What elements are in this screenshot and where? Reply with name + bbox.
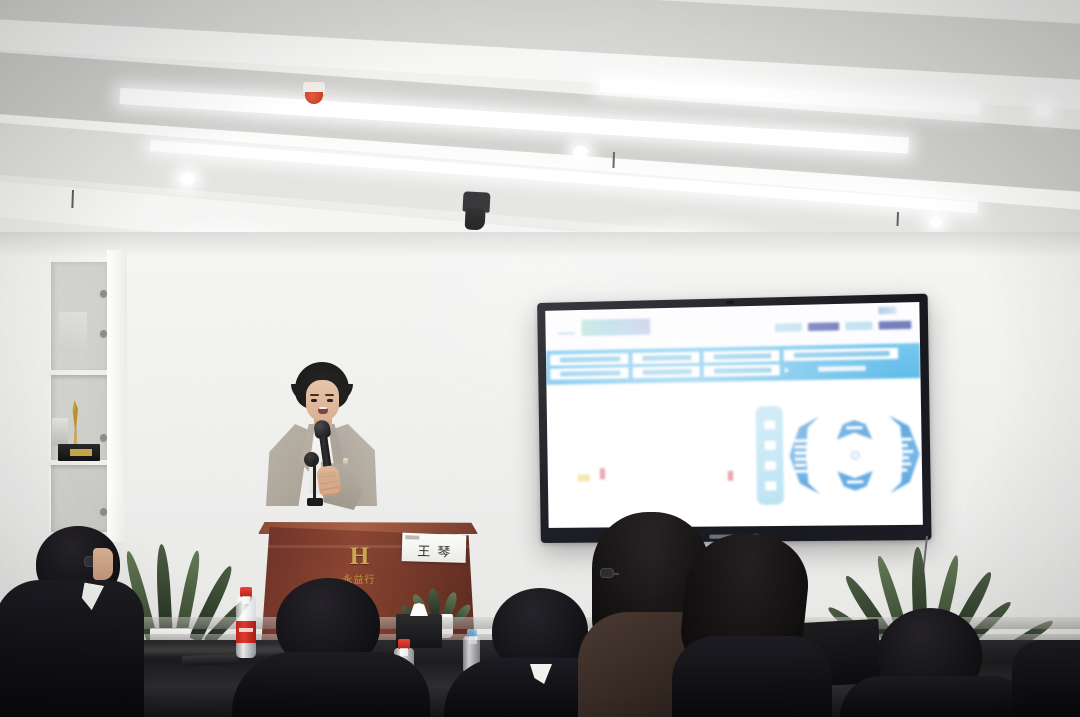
- downlight-4: [930, 218, 942, 227]
- diagram-left-arc: [789, 417, 820, 495]
- menu-item-4-label: [794, 351, 890, 358]
- caret-right-icon: [705, 368, 709, 374]
- downlight-1: [180, 173, 195, 185]
- niche-peg-2: [100, 330, 107, 337]
- ptz-camera-icon: [462, 191, 490, 212]
- name-card: 王琴: [402, 532, 467, 563]
- name-card-name: 王琴: [402, 540, 467, 561]
- slide-title: [581, 318, 650, 336]
- niche-peg-4: [100, 508, 107, 515]
- menu-item-2-label: [643, 355, 692, 361]
- menu-item-3-label: [714, 353, 772, 359]
- downlight-3: [1036, 104, 1051, 116]
- niche-peg-1: [100, 290, 107, 297]
- slide-header-mark: [878, 307, 896, 315]
- slide-step-pill: [756, 406, 784, 505]
- award-object: [52, 418, 68, 446]
- niche-shelf-1: [51, 370, 109, 375]
- slide-nav-tabs[interactable]: [775, 321, 911, 332]
- conference-room-scene: H 永益行 王琴: [0, 0, 1080, 717]
- presenter-lapel-pin: [343, 458, 348, 465]
- mark-red-2: [728, 471, 733, 481]
- diagram-top-lobe: [836, 420, 872, 440]
- caret-right-icon: [634, 370, 638, 376]
- diagram-hub: [851, 451, 861, 460]
- menu-item-6-label: [643, 369, 692, 375]
- caret-right-icon: [785, 367, 789, 373]
- slide-back-icon[interactable]: [559, 332, 575, 334]
- display-camera-icon: [726, 300, 734, 304]
- presenter-mouth: [318, 407, 328, 414]
- menu-item-4[interactable]: [784, 348, 899, 362]
- slide-body: [546, 378, 923, 528]
- mark-red: [600, 468, 605, 479]
- wall-ceiling-shadow: [0, 232, 1080, 258]
- menu-item-7[interactable]: [704, 364, 780, 377]
- smoke-detector-icon: [303, 82, 325, 95]
- nav-tab-3[interactable]: [845, 322, 872, 331]
- menu-item-8-label: [818, 366, 866, 372]
- caret-right-icon: [705, 354, 709, 360]
- menu-item-1[interactable]: [550, 353, 629, 366]
- caret-right-icon: [785, 352, 789, 358]
- water-bottle-1[interactable]: [236, 596, 256, 658]
- caret-right-icon: [551, 357, 555, 363]
- mark-yellow: [578, 474, 590, 481]
- presenter: [255, 362, 385, 540]
- interactive-display-panel[interactable]: [537, 294, 931, 543]
- presenter-face: [306, 380, 339, 421]
- menu-item-3[interactable]: [703, 350, 779, 363]
- presentation-slide: [545, 302, 923, 528]
- menu-item-7-label: [714, 368, 772, 374]
- menu-item-8[interactable]: [784, 362, 899, 375]
- nav-tab-2[interactable]: [808, 322, 839, 331]
- framed-certificate: [59, 312, 87, 352]
- ceiling: [0, 0, 1080, 250]
- nav-tab-4[interactable]: [879, 321, 912, 330]
- menu-item-2[interactable]: [632, 352, 699, 364]
- menu-item-6[interactable]: [633, 366, 700, 378]
- niche-peg-3: [100, 434, 107, 441]
- display-screen[interactable]: [545, 302, 923, 528]
- diagram-bottom-lobe: [837, 471, 873, 491]
- diagram-right-arc: [889, 415, 921, 493]
- smartphone[interactable]: [182, 654, 238, 666]
- caret-right-icon: [633, 355, 637, 361]
- podium-logo-mark: H: [337, 545, 381, 569]
- niche-pillar: [107, 250, 127, 542]
- menu-item-5[interactable]: [550, 367, 629, 380]
- nav-tab-1[interactable]: [775, 323, 802, 332]
- gooseneck-microphone-base: [307, 498, 323, 506]
- cycle-diagram: [789, 409, 921, 501]
- gooseneck-microphone-head[interactable]: [304, 452, 319, 467]
- menu-item-1-label: [560, 356, 620, 362]
- gooseneck-microphone-stem: [313, 460, 316, 500]
- name-card-subtitle: [405, 535, 419, 539]
- downlight-2: [573, 146, 588, 158]
- menu-item-5-label: [560, 370, 620, 376]
- caret-right-icon: [551, 371, 555, 377]
- award-plaque: [58, 444, 100, 461]
- display-niche: [49, 262, 107, 532]
